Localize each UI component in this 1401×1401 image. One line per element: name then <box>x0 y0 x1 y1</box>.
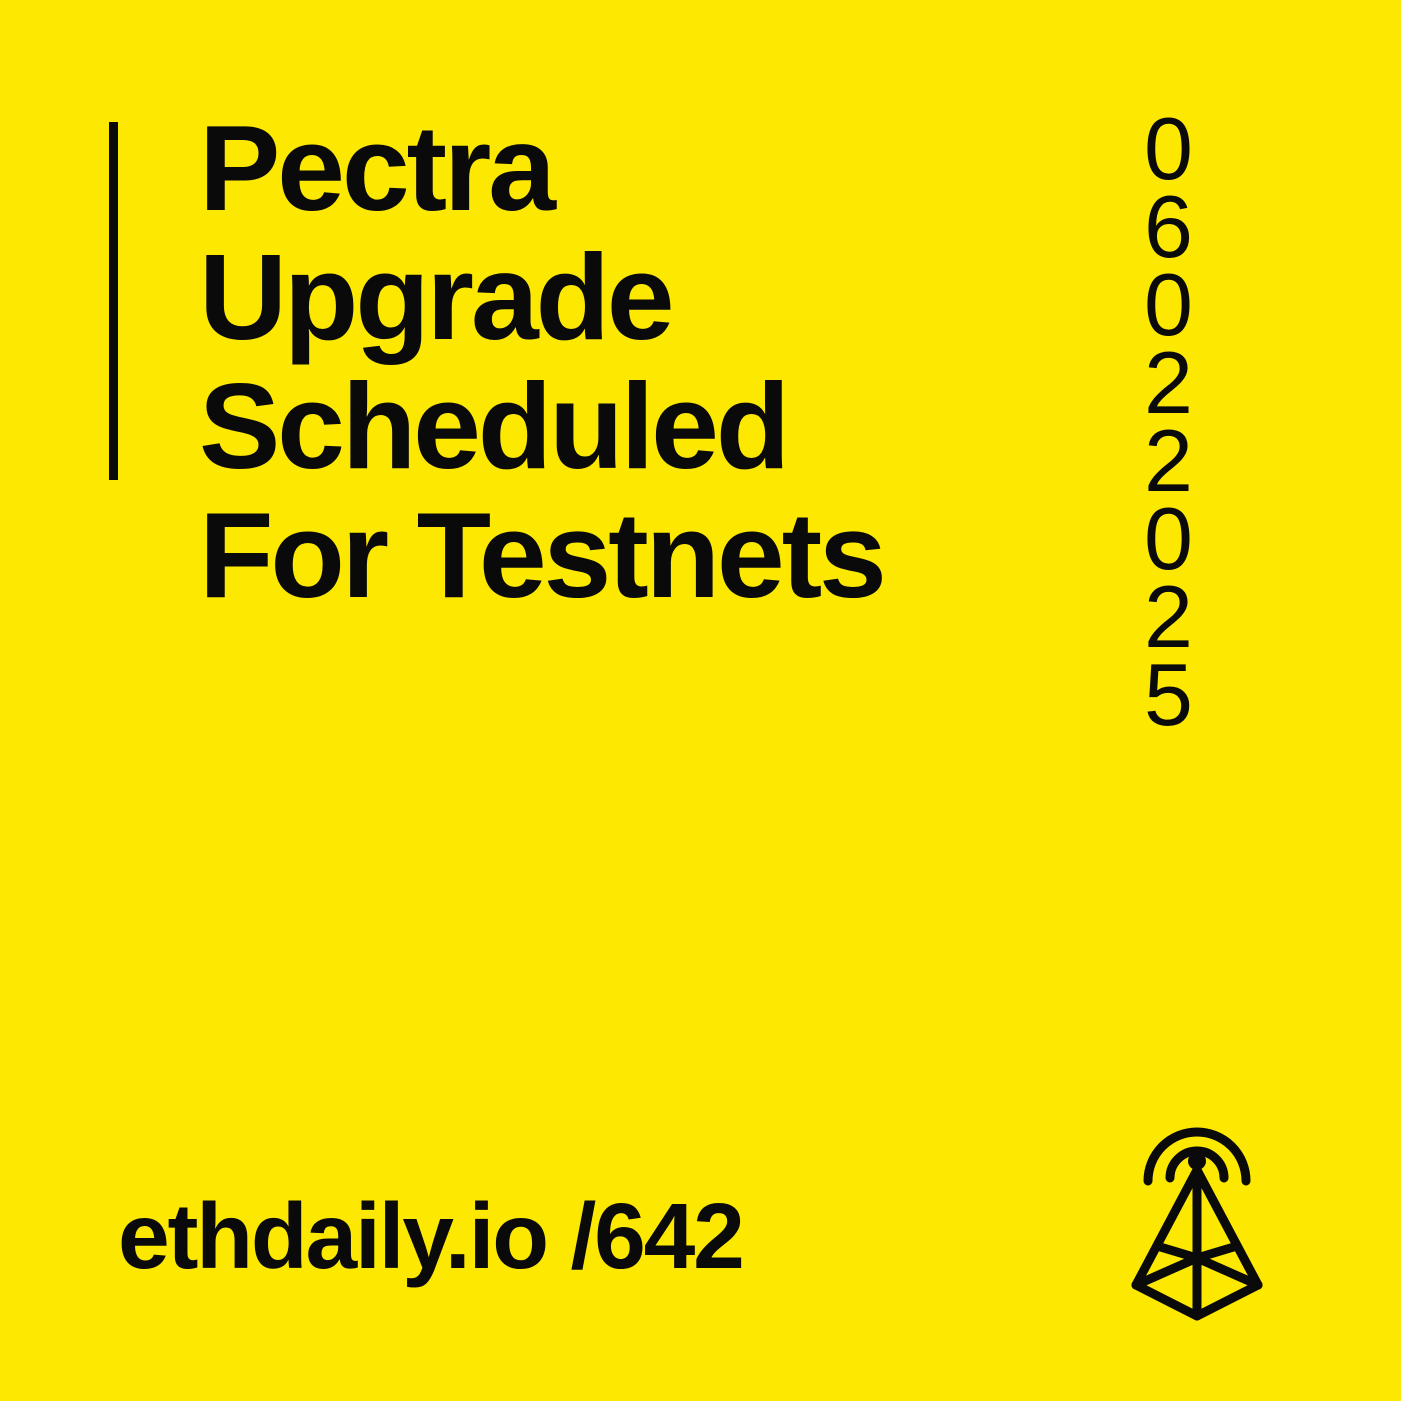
date-digit: 5 <box>1144 656 1193 734</box>
footer-wordmark: ethdaily.io /642 <box>118 1186 743 1286</box>
headline-line-1: Pectra <box>199 104 1139 233</box>
broadcast-tower-icon <box>1126 1108 1268 1328</box>
accent-rule <box>109 122 118 480</box>
social-card: Pectra Upgrade Scheduled For Testnets 0 … <box>0 0 1401 1401</box>
page-title: Pectra Upgrade Scheduled For Testnets <box>199 104 1139 620</box>
headline-line-3: Scheduled <box>199 362 1139 491</box>
headline-line-2: Upgrade <box>199 233 1139 362</box>
headline-block: Pectra Upgrade Scheduled For Testnets 0 … <box>0 0 1401 800</box>
publication-date: 0 6 0 2 2 0 2 5 <box>1144 110 1254 734</box>
headline-line-4: For Testnets <box>199 491 1139 620</box>
